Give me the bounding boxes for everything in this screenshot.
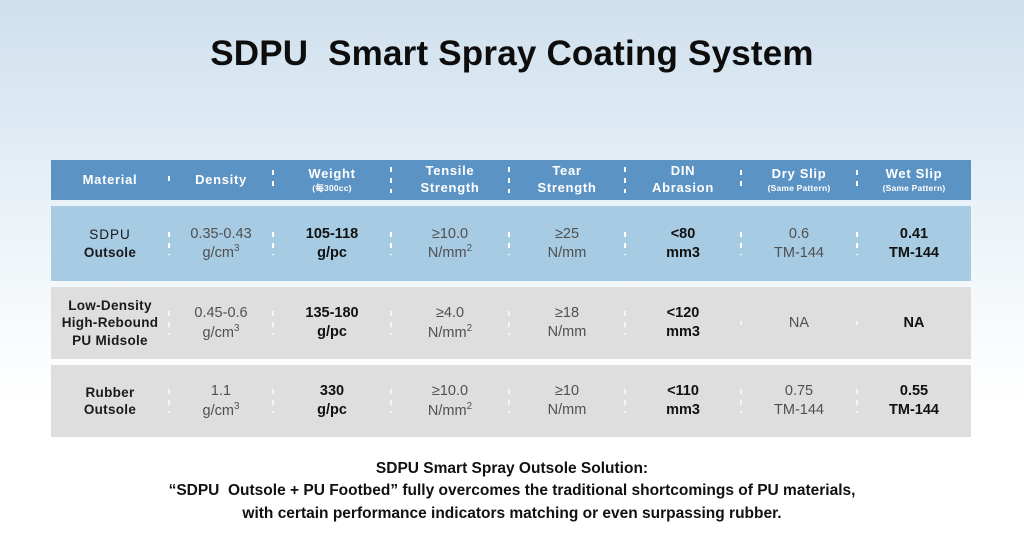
density-unit: g/cm3 [203,323,240,342]
density-value: 0.35-0.43 [190,225,251,244]
tensile-value: ≥10.0 [432,225,468,244]
column-header-tensile-strength-label: Tensile Strength [420,163,479,196]
column-header-density-label: Density [195,172,247,189]
cell-material: Low-Density High-Rebound PU Midsole [51,297,169,349]
cell-weight: 105-118 g/pc [273,225,391,262]
column-header-weight: Weight (每300cc) [273,166,391,195]
table-row: SDPU Outsole 0.35-0.43 g/cm3 105-118 g/p… [51,206,971,281]
cell-tear-strength: ≥25 N/mm [509,225,625,262]
cell-dry-slip: 0.75 TM-144 [741,382,857,419]
tear-unit: N/mm [548,401,587,420]
tear-unit: N/mm [548,323,587,342]
weight-unit: g/pc [317,401,347,420]
cell-wet-slip: 0.41 TM-144 [857,225,971,262]
density-value: 1.1 [211,382,231,401]
material-line-1: SDPU [89,226,131,243]
column-header-dry-slip: Dry Slip (Same Pattern) [741,166,857,195]
cell-dry-slip: 0.6 TM-144 [741,225,857,262]
tear-value: ≥18 [555,304,579,323]
cell-din-abrasion: <80 mm3 [625,225,741,262]
dry-slip-value: 0.6 [789,225,809,244]
material-line-1: Rubber [85,384,134,401]
cell-weight: 135-180 g/pc [273,304,391,341]
footer-line-1: SDPU Smart Spray Outsole Solution: [0,458,1024,480]
material-line-2: Outsole [84,244,136,261]
dry-slip-value: NA [789,314,809,333]
column-header-material: Material [51,172,169,189]
density-unit: g/cm3 [203,243,240,262]
slide-canvas: SDPU Smart Spray Coating System Material… [0,0,1024,550]
wet-slip-unit: TM-144 [889,401,939,420]
density-value: 0.45-0.6 [194,304,247,323]
cell-weight: 330 g/pc [273,382,391,419]
dry-slip-unit: TM-144 [774,401,824,420]
material-line-1: Low-Density [68,297,152,314]
table-row: Rubber Outsole 1.1 g/cm3 330 g/pc ≥10.0 … [51,365,971,437]
column-header-wet-slip-label: Wet Slip [886,166,943,183]
column-header-dry-slip-label: Dry Slip [772,166,827,183]
page-title: SDPU Smart Spray Coating System [0,34,1024,74]
table-header-row: Material Density Weight (每300cc) Tensile… [51,160,971,200]
din-unit: mm3 [666,244,700,263]
column-header-density: Density [169,172,273,189]
cell-tear-strength: ≥18 N/mm [509,304,625,341]
din-value: <120 [667,304,700,323]
cell-material: Rubber Outsole [51,384,169,419]
footer-line-2: “SDPU Outsole + PU Footbed” fully overco… [0,480,1024,502]
cell-tensile-strength: ≥4.0 N/mm2 [391,304,509,342]
footer-caption: SDPU Smart Spray Outsole Solution: “SDPU… [0,458,1024,525]
column-header-tensile-strength: Tensile Strength [391,163,509,196]
material-line-2: Outsole [84,401,136,418]
cell-wet-slip: NA [857,314,971,333]
cell-tensile-strength: ≥10.0 N/mm2 [391,225,509,263]
tensile-value: ≥10.0 [432,382,468,401]
din-value: <80 [671,225,696,244]
tensile-unit: N/mm2 [428,243,472,262]
cell-tensile-strength: ≥10.0 N/mm2 [391,382,509,420]
cell-density: 0.45-0.6 g/cm3 [169,304,273,342]
din-unit: mm3 [666,401,700,420]
density-unit: g/cm3 [203,401,240,420]
tear-value: ≥10 [555,382,579,401]
tear-unit: N/mm [548,244,587,263]
cell-dry-slip: NA [741,314,857,333]
dry-slip-value: 0.75 [785,382,813,401]
weight-value: 330 [320,382,344,401]
footer-line-3: with certain performance indicators matc… [0,503,1024,525]
weight-unit: g/pc [317,323,347,342]
wet-slip-value: 0.55 [900,382,928,401]
cell-din-abrasion: <120 mm3 [625,304,741,341]
cell-density: 1.1 g/cm3 [169,382,273,420]
column-header-din-abrasion: DIN Abrasion [625,163,741,196]
tensile-unit: N/mm2 [428,323,472,342]
column-header-tear-strength-label: Tear Strength [537,163,596,196]
column-header-weight-sublabel: (每300cc) [312,183,351,194]
wet-slip-value: 0.41 [900,225,928,244]
din-unit: mm3 [666,323,700,342]
weight-unit: g/pc [317,244,347,263]
column-header-wet-slip-sublabel: (Same Pattern) [883,183,946,194]
weight-value: 105-118 [306,225,358,244]
page-title-container: SDPU Smart Spray Coating System [0,34,1024,74]
cell-density: 0.35-0.43 g/cm3 [169,225,273,263]
cell-material: SDPU Outsole [51,226,169,261]
cell-wet-slip: 0.55 TM-144 [857,382,971,419]
column-header-din-abrasion-label: DIN Abrasion [652,163,714,196]
wet-slip-value: NA [904,314,925,333]
din-value: <110 [667,382,699,401]
column-header-tear-strength: Tear Strength [509,163,625,196]
cell-tear-strength: ≥10 N/mm [509,382,625,419]
material-line-3: PU Midsole [72,332,148,349]
column-header-dry-slip-sublabel: (Same Pattern) [768,183,831,194]
dry-slip-unit: TM-144 [774,244,824,263]
column-header-material-label: Material [83,172,138,189]
material-comparison-table: Material Density Weight (每300cc) Tensile… [51,160,971,437]
material-line-2: High-Rebound [62,314,159,331]
tear-value: ≥25 [555,225,579,244]
wet-slip-unit: TM-144 [889,244,939,263]
table-row: Low-Density High-Rebound PU Midsole 0.45… [51,287,971,359]
tensile-value: ≥4.0 [436,304,464,323]
weight-value: 135-180 [305,304,358,323]
cell-din-abrasion: <110 mm3 [625,382,741,419]
tensile-unit: N/mm2 [428,401,472,420]
column-header-weight-label: Weight [308,166,355,183]
column-header-wet-slip: Wet Slip (Same Pattern) [857,166,971,195]
